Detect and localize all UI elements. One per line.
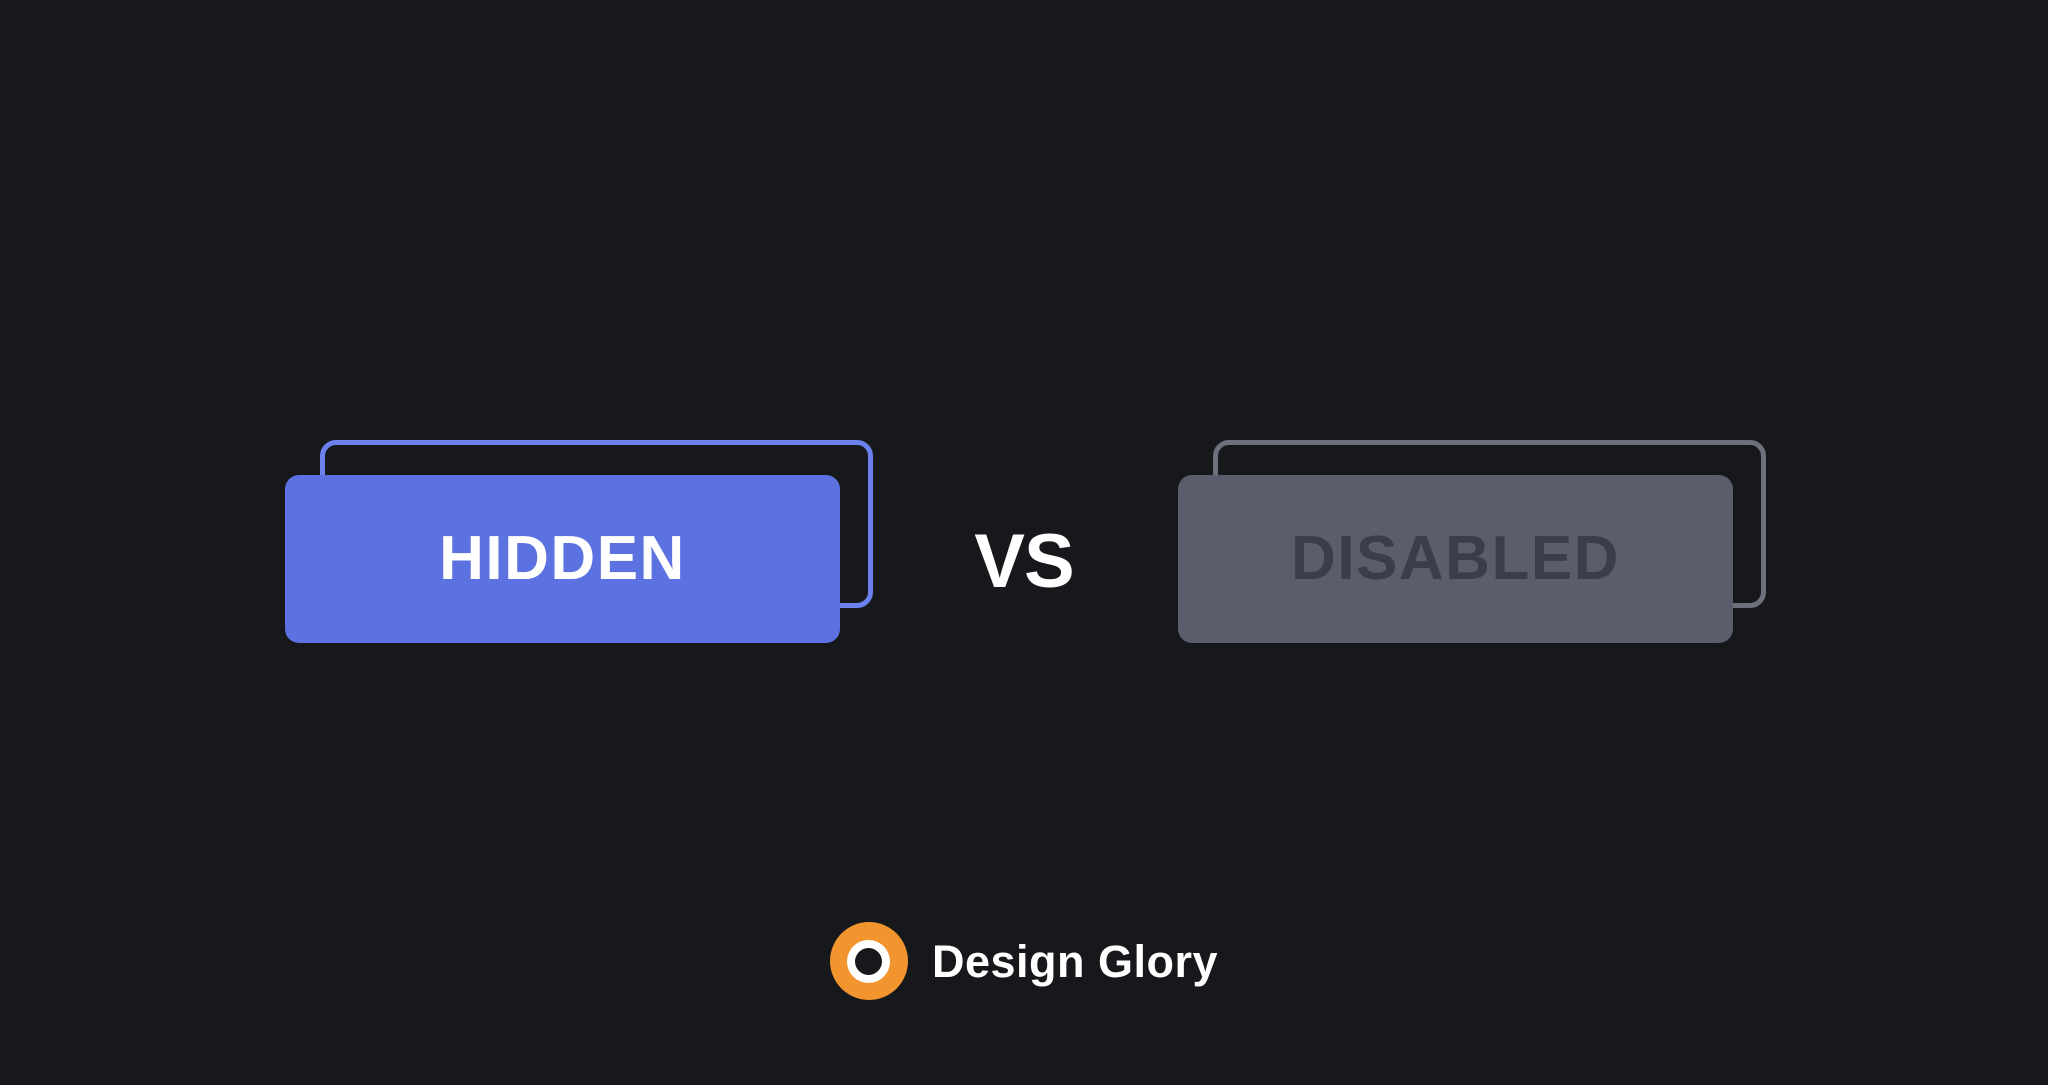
- ring-circle-icon-core: [855, 948, 882, 975]
- disabled-button-label: DISABLED: [1291, 528, 1620, 590]
- disabled-button: DISABLED: [1178, 475, 1733, 643]
- ring-circle-icon-ring: [847, 940, 890, 983]
- brand-lockup: Design Glory: [0, 922, 2048, 1000]
- comparison-stage: HIDDEN VS DISABLED Design Glory: [0, 0, 2048, 1085]
- option-disabled: DISABLED: [1178, 428, 1778, 643]
- ring-circle-icon: [830, 922, 908, 1000]
- brand-name: Design Glory: [932, 939, 1218, 984]
